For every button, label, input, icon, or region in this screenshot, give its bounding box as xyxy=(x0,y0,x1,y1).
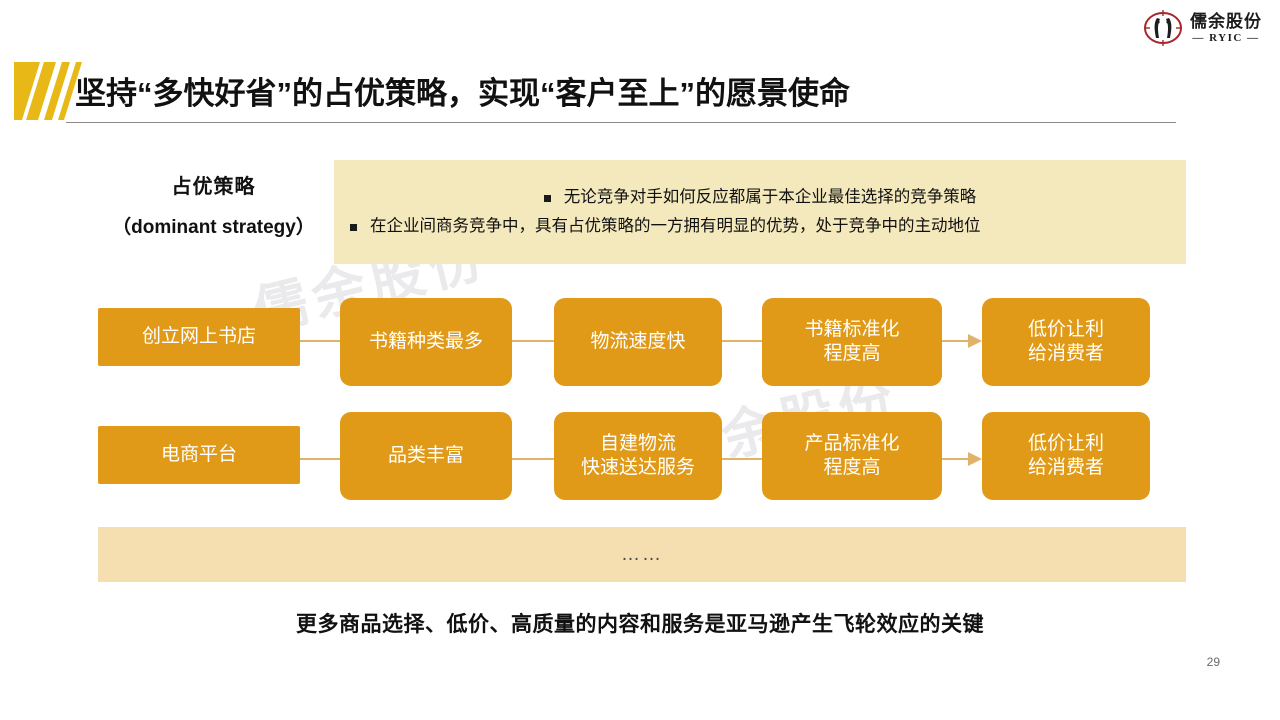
dominant-strategy-label-en: （dominant strategy） xyxy=(96,212,331,239)
company-logo: 儒余股份 — RYIC — xyxy=(1143,8,1262,48)
definition-item-text: 在企业间商务竞争中，具有占优策略的一方拥有明显的优势，处于竞争中的主动地位 xyxy=(370,217,981,237)
square-bullet-icon xyxy=(544,195,551,202)
logo-wordmark: 儒余股份 — RYIC — xyxy=(1190,13,1262,44)
flow-node[interactable]: 电商平台 xyxy=(98,426,300,484)
flow-node[interactable]: 品类丰富 xyxy=(340,412,512,500)
page-number: 29 xyxy=(1207,655,1220,669)
ellipsis-panel: …… xyxy=(98,527,1186,582)
title-divider xyxy=(66,122,1176,123)
flow-node[interactable]: 创立网上书店 xyxy=(98,308,300,366)
dominant-strategy-label: 占优策略 （dominant strategy） xyxy=(96,170,331,239)
flow-connector xyxy=(300,340,340,342)
logo-name-cn: 儒余股份 xyxy=(1190,13,1262,30)
online-bookstore-flow: 创立网上书店 书籍种类最多 物流速度快 书籍标准化程度高 低价让利给消费者 xyxy=(0,298,1280,386)
footer-note: 更多商品选择、低价、高质量的内容和服务是亚马逊产生飞轮效应的关键 xyxy=(0,608,1280,638)
flow-connector xyxy=(722,340,762,342)
flow-node[interactable]: 书籍种类最多 xyxy=(340,298,512,386)
flow-connector xyxy=(512,340,554,342)
square-bullet-icon xyxy=(350,224,357,231)
flow-connector xyxy=(300,458,340,460)
ellipsis-text: …… xyxy=(621,544,663,566)
flow-node[interactable]: 书籍标准化程度高 xyxy=(762,298,942,386)
ecommerce-platform-flow: 电商平台 品类丰富 自建物流快速送达服务 产品标准化程度高 低价让利给消费者 xyxy=(0,412,1280,500)
definition-list: 无论竞争对手如何反应都属于本企业最佳选择的竞争策略 在企业间商务竞争中，具有占优… xyxy=(334,160,1186,264)
flow-connector xyxy=(512,458,554,460)
flow-node[interactable]: 低价让利给消费者 xyxy=(982,412,1150,500)
definition-item-text: 无论竞争对手如何反应都属于本企业最佳选择的竞争策略 xyxy=(564,188,977,208)
logo-name-en: — RYIC — xyxy=(1192,33,1259,44)
flow-node[interactable]: 物流速度快 xyxy=(554,298,722,386)
logo-emblem-icon xyxy=(1143,8,1183,48)
definition-item: 无论竞争对手如何反应都属于本企业最佳选择的竞争策略 xyxy=(334,188,1186,208)
flow-node[interactable]: 自建物流快速送达服务 xyxy=(554,412,722,500)
flow-node[interactable]: 低价让利给消费者 xyxy=(982,298,1150,386)
dominant-strategy-label-cn: 占优策略 xyxy=(96,170,331,199)
arrow-head-icon xyxy=(968,334,982,348)
arrow-head-icon xyxy=(968,452,982,466)
definition-item: 在企业间商务竞争中，具有占优策略的一方拥有明显的优势，处于竞争中的主动地位 xyxy=(334,217,1186,237)
flow-node[interactable]: 产品标准化程度高 xyxy=(762,412,942,500)
flow-connector xyxy=(722,458,762,460)
page-title: 坚持“多快好省”的占优策略，实现“客户至上”的愿景使命 xyxy=(75,68,850,113)
